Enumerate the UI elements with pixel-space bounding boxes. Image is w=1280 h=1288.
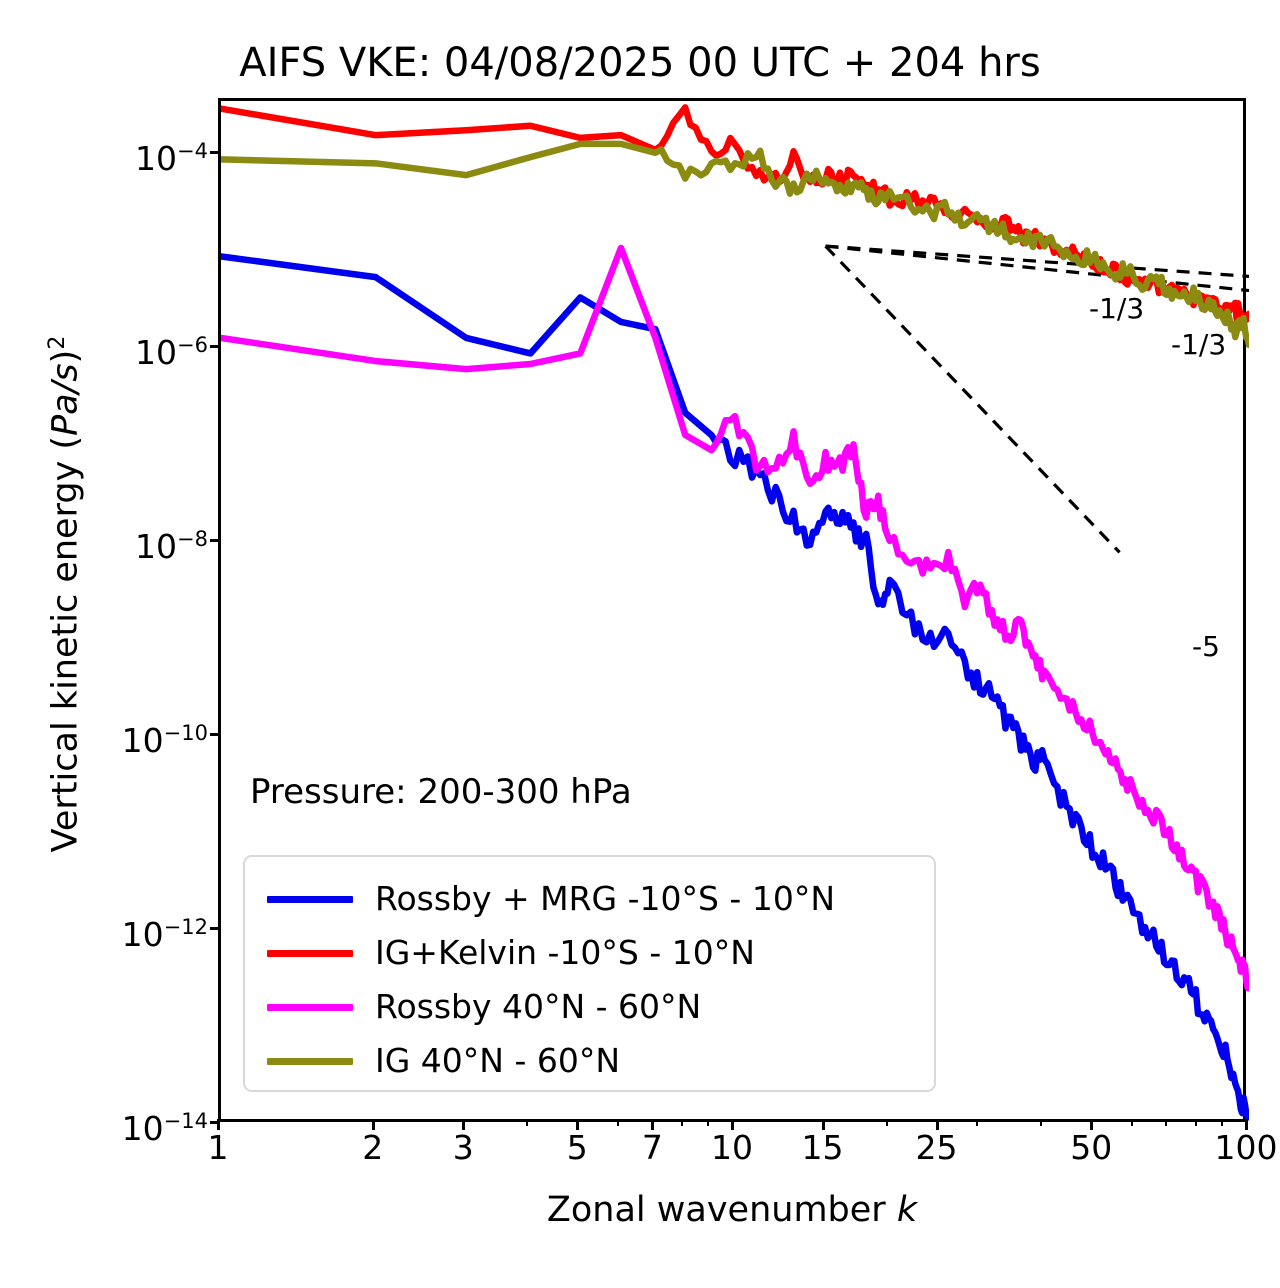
x-axis-label: Zonal wavenumber k xyxy=(218,1190,1246,1230)
x-tick-mark-4 xyxy=(651,1119,654,1130)
legend-item-0[interactable]: Rossby + MRG -10°S - 10°N xyxy=(267,873,835,925)
legend-item-1[interactable]: IG+Kelvin -10°S - 10°N xyxy=(267,927,755,979)
pressure-annotation: Pressure: 200-300 hPa xyxy=(250,772,632,812)
x-tick-mark-5 xyxy=(731,1119,734,1130)
x-tick-mark-3 xyxy=(576,1119,579,1130)
reference-line-13 xyxy=(826,246,1249,276)
y-tick-label-1: 10−6 xyxy=(135,329,208,369)
x-tick-mark-1 xyxy=(372,1119,375,1130)
y-tick-mantissa-2: 10 xyxy=(135,527,177,566)
x-tick-mark-2 xyxy=(462,1119,465,1130)
x-tick-minor-1 xyxy=(617,1119,619,1126)
x-tick-label-0: 1 xyxy=(208,1130,229,1166)
x-tick-label-6: 15 xyxy=(802,1130,844,1166)
x-tick-minor-8 xyxy=(1165,1119,1167,1126)
y-tick-exponent-3: −10 xyxy=(164,721,208,745)
y-tick-mark-4 xyxy=(210,927,220,930)
y-tick-exponent-5: −14 xyxy=(164,1109,208,1133)
y-tick-mark-3 xyxy=(210,733,220,736)
x-tick-mark-7 xyxy=(936,1119,939,1130)
x-tick-minor-7 xyxy=(1131,1119,1133,1126)
y-tick-mantissa-0: 10 xyxy=(135,139,177,178)
y-tick-mark-2 xyxy=(210,539,220,542)
x-tick-mark-8 xyxy=(1090,1119,1093,1130)
y-tick-exponent-1: −6 xyxy=(177,333,208,357)
legend-label-2: Rossby 40°N - 60°N xyxy=(375,989,701,1025)
reference-line-13 xyxy=(826,246,1249,290)
x-tick-minor-6 xyxy=(1040,1119,1042,1126)
x-tick-label-3: 5 xyxy=(567,1130,588,1166)
y-tick-mark-1 xyxy=(210,345,220,348)
y-tick-mantissa-3: 10 xyxy=(122,721,164,760)
x-tick-mark-9 xyxy=(1245,1119,1248,1130)
y-tick-mantissa-1: 10 xyxy=(135,333,177,372)
x-axis-label-main: Zonal wavenumber xyxy=(547,1190,897,1230)
x-tick-label-7: 25 xyxy=(916,1130,958,1166)
x-tick-label-4: 7 xyxy=(642,1130,663,1166)
x-tick-minor-4 xyxy=(886,1119,888,1126)
x-tick-minor-3 xyxy=(707,1119,709,1126)
y-tick-label-3: 10−10 xyxy=(122,717,208,757)
legend-color-swatch-3 xyxy=(267,1058,353,1065)
x-axis-label-symbol: k xyxy=(897,1190,917,1230)
y-tick-label-2: 10−8 xyxy=(135,523,208,563)
x-tick-minor-0 xyxy=(526,1119,528,1126)
y-tick-label-5: 10−14 xyxy=(122,1105,208,1145)
series-line-1 xyxy=(221,107,1249,319)
y-axis-label-main: Vertical kinetic energy ( xyxy=(46,436,86,852)
legend-color-swatch-0 xyxy=(267,896,353,903)
slope-label-minus-five: -5 xyxy=(1192,632,1220,662)
y-axis-label-close: ) xyxy=(46,350,86,364)
y-tick-exponent-0: −4 xyxy=(177,139,208,163)
y-tick-mantissa-4: 10 xyxy=(122,915,164,954)
y-axis-label-units: Pa/s xyxy=(46,363,86,436)
y-axis-label: Vertical kinetic energy (Pa/s)2 xyxy=(34,244,82,944)
y-tick-exponent-4: −12 xyxy=(164,915,208,939)
x-tick-minor-2 xyxy=(681,1119,683,1126)
slope-label-lower-third: -1/3 xyxy=(1171,330,1226,360)
legend-color-swatch-1 xyxy=(267,950,353,957)
y-tick-label-0: 10−4 xyxy=(135,135,208,175)
x-tick-minor-9 xyxy=(1195,1119,1197,1126)
page-title: AIFS VKE: 04/08/2025 00 UTC + 204 hrs xyxy=(0,40,1280,86)
legend-label-3: IG 40°N - 60°N xyxy=(375,1043,620,1079)
x-tick-label-2: 3 xyxy=(453,1130,474,1166)
slope-label-upper-third: -1/3 xyxy=(1089,294,1144,324)
legend-color-swatch-2 xyxy=(267,1004,353,1011)
y-tick-mantissa-5: 10 xyxy=(122,1109,164,1148)
chart-page: AIFS VKE: 04/08/2025 00 UTC + 204 hrs Ve… xyxy=(0,0,1280,1288)
x-tick-minor-10 xyxy=(1221,1119,1223,1126)
legend-item-2[interactable]: Rossby 40°N - 60°N xyxy=(267,981,701,1033)
y-axis-label-exponent: 2 xyxy=(45,336,70,350)
y-tick-label-4: 10−12 xyxy=(122,911,208,951)
y-tick-mark-0 xyxy=(210,151,220,154)
x-tick-label-5: 10 xyxy=(711,1130,753,1166)
x-tick-label-8: 50 xyxy=(1070,1130,1112,1166)
y-tick-exponent-2: −8 xyxy=(177,527,208,551)
legend-label-1: IG+Kelvin -10°S - 10°N xyxy=(375,935,755,971)
x-tick-mark-6 xyxy=(822,1119,825,1130)
legend-item-3[interactable]: IG 40°N - 60°N xyxy=(267,1035,620,1087)
x-tick-label-1: 2 xyxy=(362,1130,383,1166)
x-tick-mark-0 xyxy=(217,1119,220,1130)
x-tick-minor-5 xyxy=(976,1119,978,1126)
x-tick-label-9: 100 xyxy=(1215,1130,1278,1166)
legend-label-0: Rossby + MRG -10°S - 10°N xyxy=(375,881,835,917)
legend-box: Rossby + MRG -10°S - 10°NIG+Kelvin -10°S… xyxy=(243,855,936,1092)
